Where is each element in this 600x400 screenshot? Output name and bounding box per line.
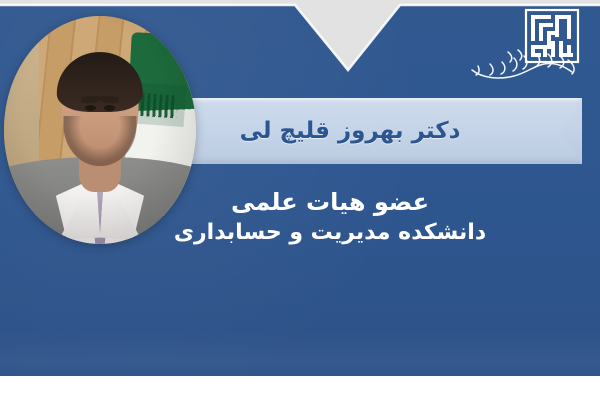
- faculty-profile-card: دکتر بهروز قلیچ لی عضو هیات علمی دانشکده…: [0, 0, 600, 400]
- university-logo: [468, 8, 590, 88]
- public-relations-script: [472, 50, 574, 78]
- faculty-name: دکتر بهروز قلیچ لی: [150, 98, 550, 164]
- portrait-vignette: [4, 16, 196, 244]
- kufic-seal-block: [526, 10, 578, 62]
- faculty-portrait-photo: [4, 16, 196, 244]
- shahid-beheshti-seal-icon: [468, 8, 590, 88]
